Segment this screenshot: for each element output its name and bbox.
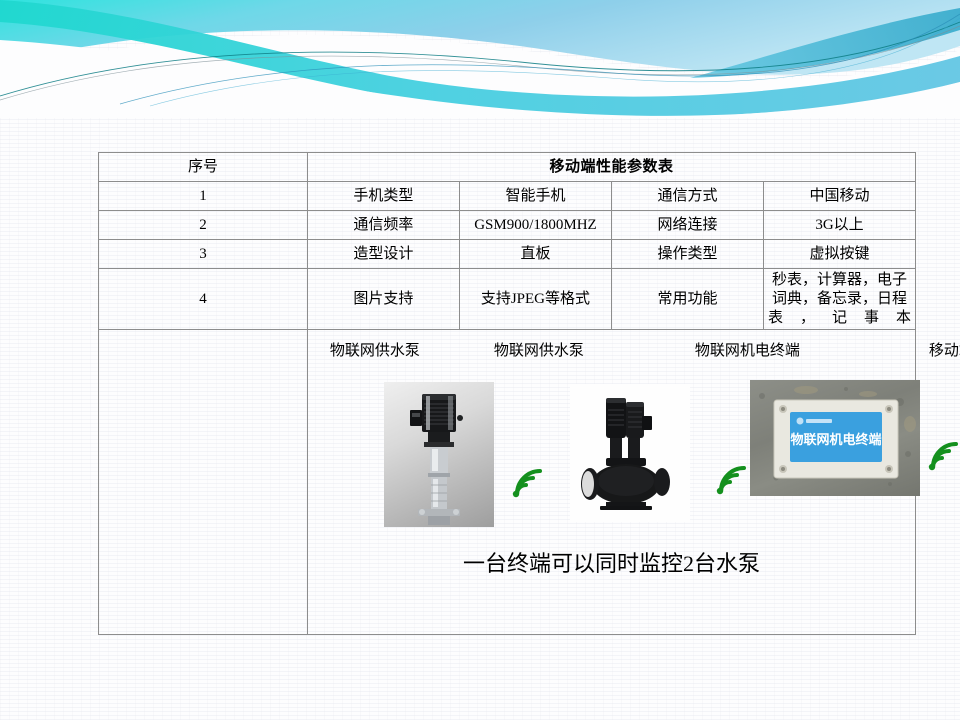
row-label-1: 图片支持 xyxy=(307,269,459,330)
row-label-2: 常用功能 xyxy=(611,269,763,330)
row-label-1: 手机类型 xyxy=(307,182,459,211)
row-value-1: 直板 xyxy=(459,240,611,269)
diagram-caption: 一台终端可以同时监控2台水泵 xyxy=(312,550,911,578)
table-title: 移动端性能参数表 xyxy=(307,153,915,182)
device-label-pump-1: 物联网供水泵 xyxy=(330,342,420,361)
vertical-multistage-pump-photo xyxy=(384,382,494,527)
device-label-terminal: 物联网机电终端 xyxy=(695,342,800,361)
table-row: 4 图片支持 支持JPEG等格式 常用功能 秒表，计算器，电子词典，备忘录，日程… xyxy=(99,269,916,330)
row-value-1: GSM900/1800MHZ xyxy=(459,211,611,240)
row-value-2: 3G以上 xyxy=(763,211,915,240)
iot-terminal-box-photo: 物联网机电终端 xyxy=(750,380,920,496)
row-index: 1 xyxy=(99,182,308,211)
wifi-signal-icon xyxy=(508,467,546,499)
device-label-mobile: 移动端显示 xyxy=(929,342,960,361)
slide-canvas: 序号 移动端性能参数表 1 手机类型 智能手机 通信方式 中国移动 2 通信频率… xyxy=(0,0,960,720)
table-row: 1 手机类型 智能手机 通信方式 中国移动 xyxy=(99,182,916,211)
terminal-box-label: 物联网机电终端 xyxy=(790,432,881,447)
device-label-pump-2: 物联网供水泵 xyxy=(494,342,584,361)
row-label-2: 通信方式 xyxy=(611,182,763,211)
inline-centrifugal-pump-photo xyxy=(570,384,690,522)
row-value-1: 支持JPEG等格式 xyxy=(459,269,611,330)
index-header: 序号 xyxy=(99,153,308,182)
diagram-index-cell xyxy=(99,330,308,635)
row-value-1: 智能手机 xyxy=(459,182,611,211)
row-index: 2 xyxy=(99,211,308,240)
mobile-spec-table: 序号 移动端性能参数表 1 手机类型 智能手机 通信方式 中国移动 2 通信频率… xyxy=(98,152,916,635)
table-row: 2 通信频率 GSM900/1800MHZ 网络连接 3G以上 xyxy=(99,211,916,240)
table-row: 3 造型设计 直板 操作类型 虚拟按键 xyxy=(99,240,916,269)
wave-banner xyxy=(0,0,960,118)
row-label-1: 造型设计 xyxy=(307,240,459,269)
row-value-2: 秒表，计算器，电子词典，备忘录，日程表，记事本 xyxy=(763,269,915,330)
wifi-signal-icon xyxy=(924,440,960,472)
row-index: 3 xyxy=(99,240,308,269)
row-index: 4 xyxy=(99,269,308,330)
row-label-1: 通信频率 xyxy=(307,211,459,240)
table-header-row: 序号 移动端性能参数表 xyxy=(99,153,916,182)
row-label-2: 网络连接 xyxy=(611,211,763,240)
diagram-row: 物联网供水泵 物联网供水泵 物联网机电终端 移动端显示 xyxy=(99,330,916,635)
row-value-2: 中国移动 xyxy=(763,182,915,211)
iot-system-diagram: 物联网供水泵 物联网供水泵 物联网机电终端 移动端显示 xyxy=(312,332,911,632)
row-label-2: 操作类型 xyxy=(611,240,763,269)
row-value-2: 虚拟按键 xyxy=(763,240,915,269)
wifi-signal-icon xyxy=(712,464,750,496)
diagram-cell: 物联网供水泵 物联网供水泵 物联网机电终端 移动端显示 xyxy=(307,330,915,635)
